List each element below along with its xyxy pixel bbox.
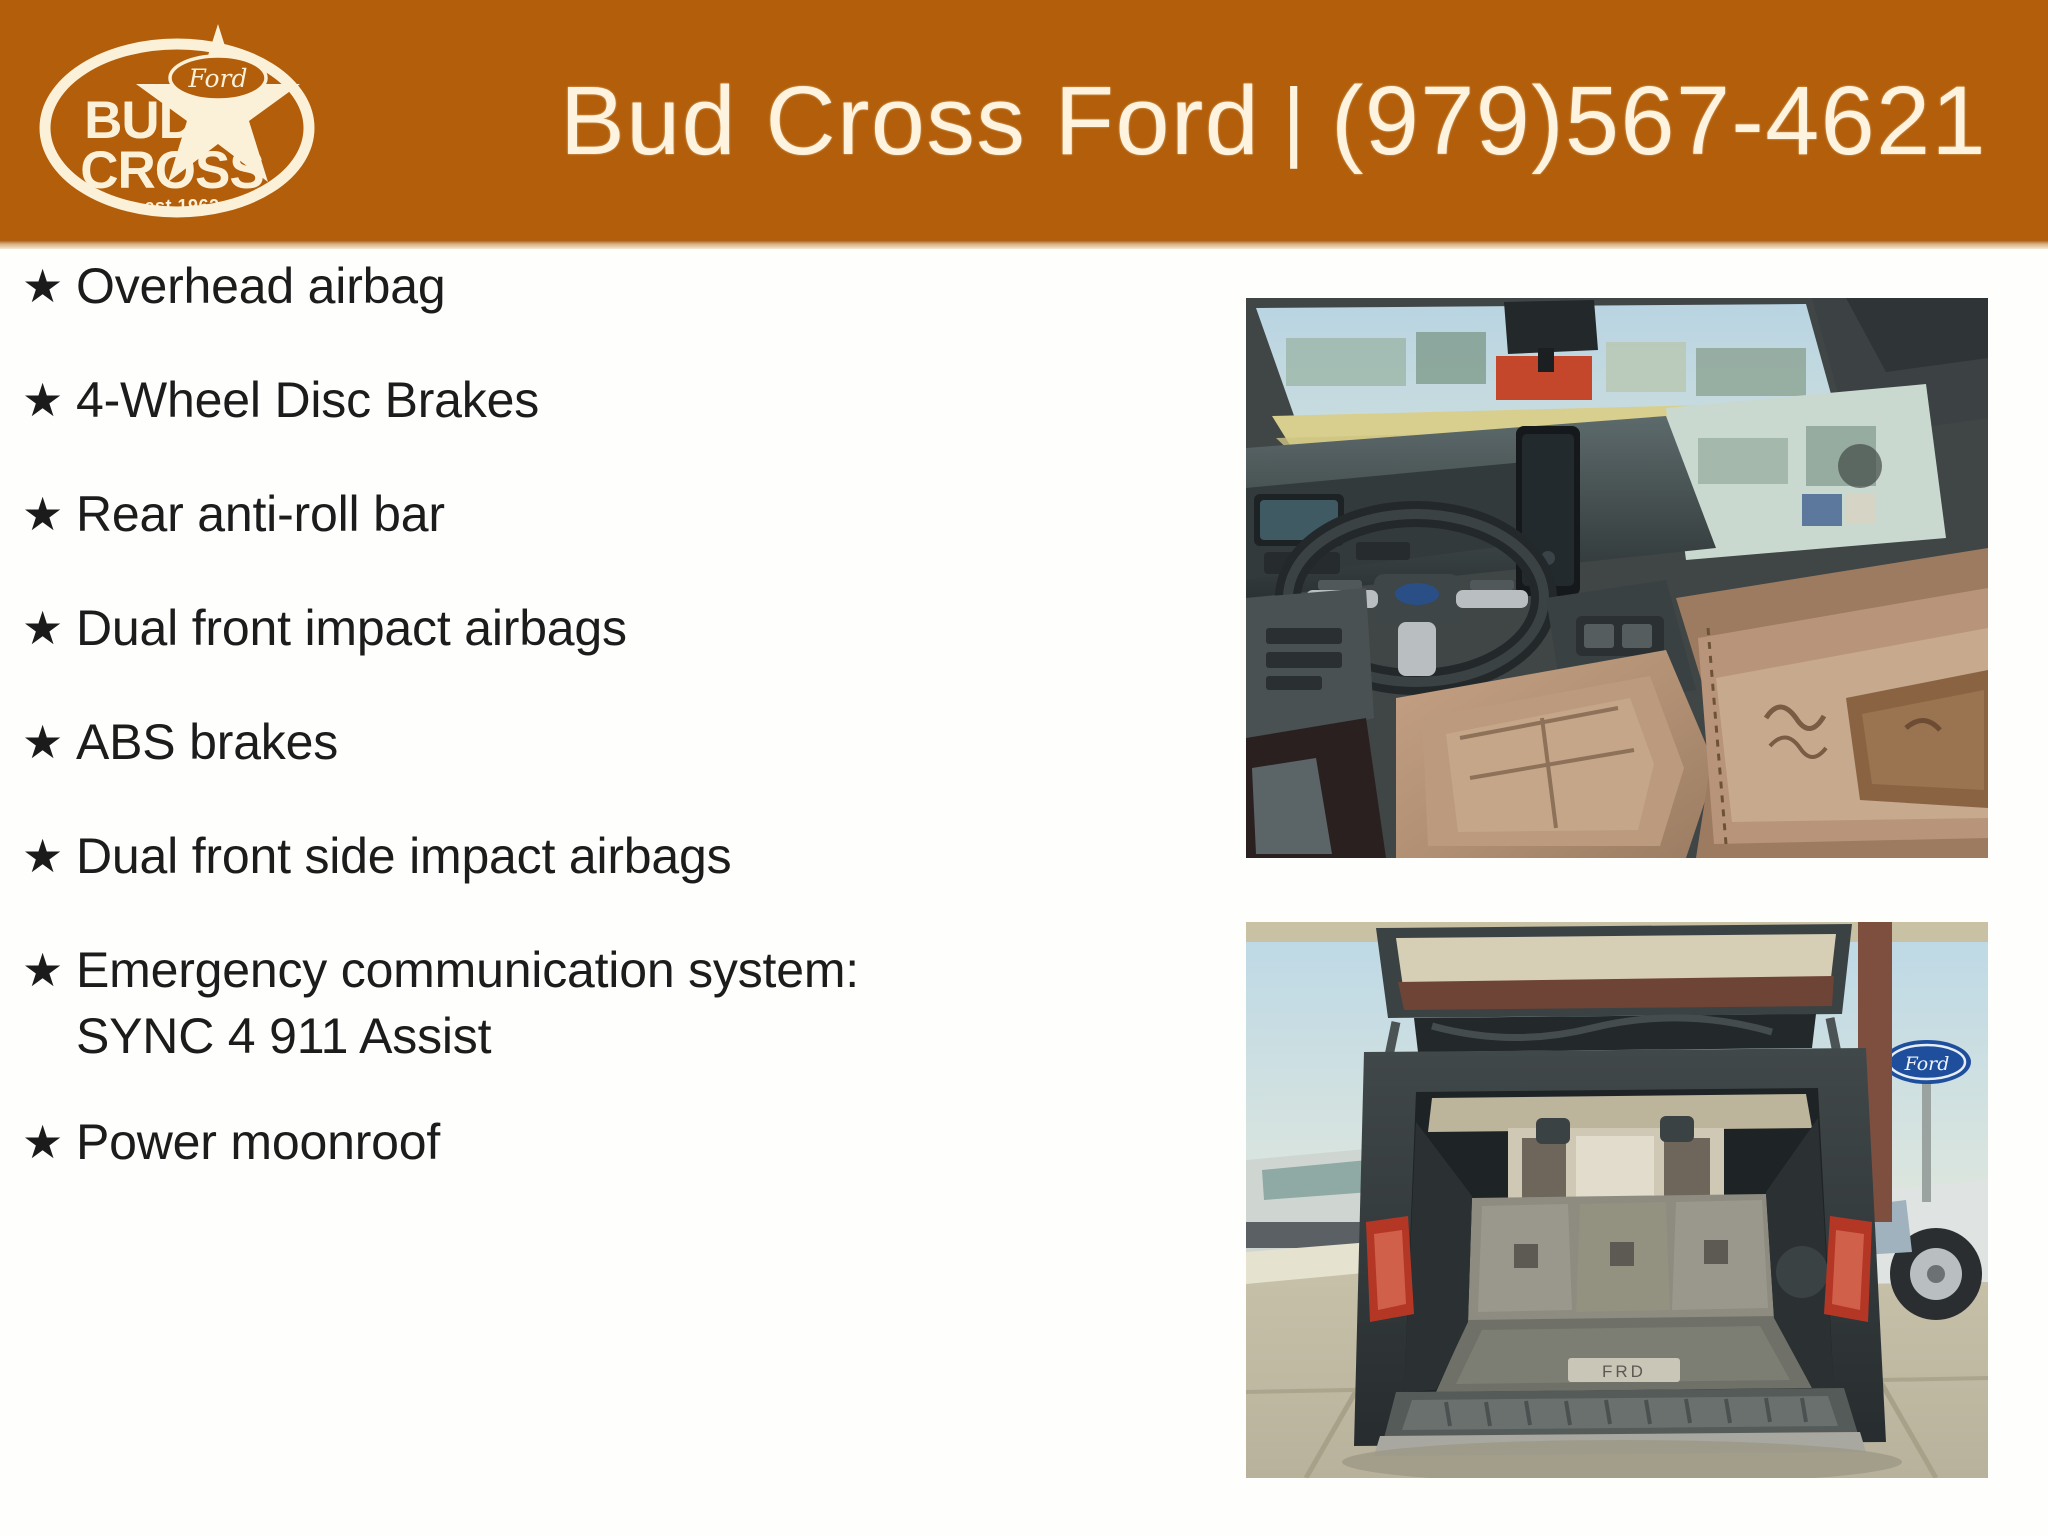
star-bullet-icon: ★ bbox=[22, 708, 76, 776]
star-logo-icon: Ford BUD CROSS est.1962 bbox=[22, 16, 332, 224]
vehicle-features-list: ★ Overhead airbag ★ 4-Wheel Disc Brakes … bbox=[0, 252, 1200, 1536]
feature-label: Dual front impact airbags bbox=[76, 594, 1200, 661]
list-item: ★ Power moonroof bbox=[0, 1108, 1200, 1222]
dealer-logo[interactable]: Ford BUD CROSS est.1962 bbox=[22, 16, 332, 224]
feature-label: Rear anti-roll bar bbox=[76, 480, 1200, 547]
svg-text:CROSS: CROSS bbox=[80, 141, 263, 200]
title-separator: | bbox=[1260, 69, 1331, 171]
cargo-image: Ford bbox=[1246, 922, 1988, 1478]
star-bullet-icon: ★ bbox=[22, 366, 76, 434]
list-item: ★ Dual front side impact airbags bbox=[0, 822, 1200, 936]
list-item: ★ Dual front impact airbags bbox=[0, 594, 1200, 708]
feature-label: 4-Wheel Disc Brakes bbox=[76, 366, 1200, 433]
list-item: ★ ABS brakes bbox=[0, 708, 1200, 822]
feature-label: Power moonroof bbox=[76, 1108, 1200, 1175]
svg-text:est.1962: est.1962 bbox=[144, 196, 219, 216]
svg-text:Ford: Ford bbox=[188, 64, 248, 93]
star-bullet-icon: ★ bbox=[22, 594, 76, 662]
feature-label: ABS brakes bbox=[76, 708, 1200, 775]
header-bar: Ford BUD CROSS est.1962 Bud Cross Ford |… bbox=[0, 0, 2048, 240]
star-bullet-icon: ★ bbox=[22, 822, 76, 890]
svg-text:FRD: FRD bbox=[1602, 1362, 1646, 1381]
star-bullet-icon: ★ bbox=[22, 936, 76, 1004]
list-item: ★ 4-Wheel Disc Brakes bbox=[0, 366, 1200, 480]
star-bullet-icon: ★ bbox=[22, 252, 76, 320]
list-item: ★ Overhead airbag bbox=[0, 252, 1200, 366]
header-underline bbox=[0, 240, 2048, 249]
vehicle-interior-photo[interactable] bbox=[1246, 298, 1988, 858]
list-item: ★ Emergency communication system: SYNC 4… bbox=[0, 936, 1200, 1108]
feature-label: Overhead airbag bbox=[76, 252, 1200, 319]
interior-image bbox=[1246, 298, 1988, 858]
star-bullet-icon: ★ bbox=[22, 480, 76, 548]
feature-label: Emergency communication system: SYNC 4 9… bbox=[76, 936, 1200, 1069]
star-bullet-icon: ★ bbox=[22, 1108, 76, 1176]
header-title: Bud Cross Ford | (979)567-4621 bbox=[560, 50, 2020, 190]
vehicle-cargo-photo[interactable]: Ford bbox=[1246, 922, 1988, 1478]
dealer-name: Bud Cross Ford bbox=[560, 72, 1260, 169]
list-item: ★ Rear anti-roll bar bbox=[0, 480, 1200, 594]
dealer-phone[interactable]: (979)567-4621 bbox=[1331, 72, 1987, 169]
svg-text:Ford: Ford bbox=[1904, 1053, 1950, 1075]
feature-label: Dual front side impact airbags bbox=[76, 822, 1200, 889]
